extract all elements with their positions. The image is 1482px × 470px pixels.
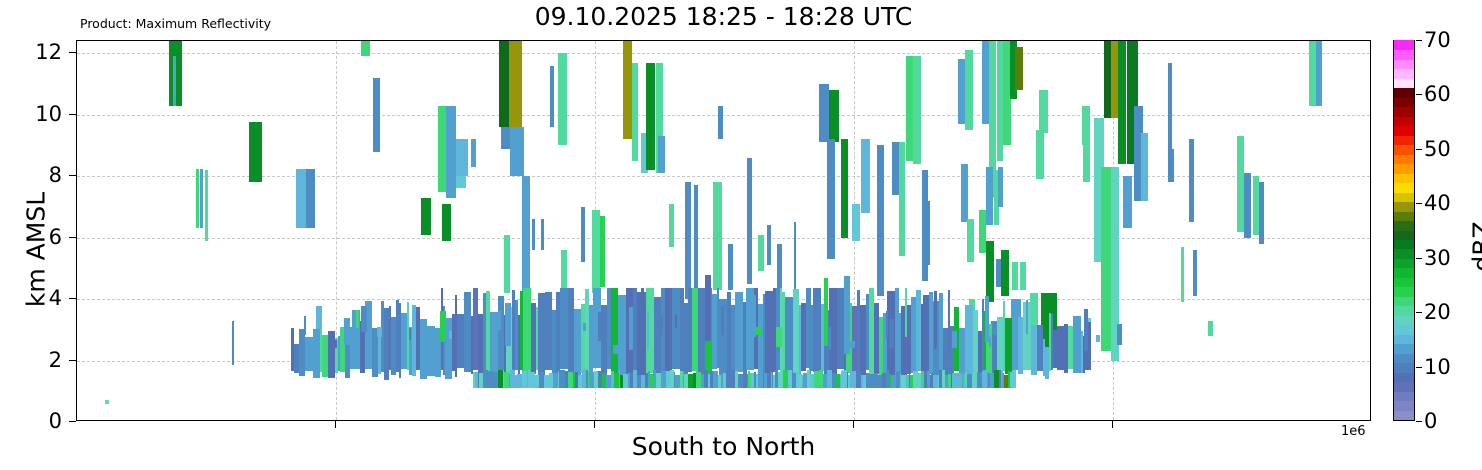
echo-cell <box>427 326 435 376</box>
colorbar-tick-label: 60 <box>1424 82 1451 106</box>
echo-cell <box>332 340 337 348</box>
colorbar-segment <box>1394 362 1414 373</box>
x-axis-label: South to North <box>76 432 1371 461</box>
echo-cell <box>523 288 531 377</box>
colorbar-segment <box>1394 144 1414 155</box>
echo-column <box>899 142 905 256</box>
echo-cell <box>598 312 603 341</box>
colorbar-segment <box>1394 343 1414 354</box>
plot-area <box>76 40 1371 421</box>
echo-column <box>1141 133 1148 201</box>
echo-cell <box>989 337 991 346</box>
echo-cell <box>771 332 775 348</box>
echo-column <box>306 169 315 229</box>
echo-column <box>819 84 829 142</box>
echo-column <box>747 158 752 284</box>
colorbar-segment <box>1394 153 1414 164</box>
echo-cell <box>672 288 680 369</box>
echo-cell <box>665 288 672 377</box>
colorbar-tick-mark <box>1416 421 1422 422</box>
echo-column <box>658 136 665 173</box>
echo-column <box>504 235 510 293</box>
echo-cell <box>420 319 427 378</box>
echo-cell <box>934 291 937 350</box>
colorbar-segment <box>1394 182 1414 193</box>
echo-cell <box>837 288 844 369</box>
echo-cell <box>560 288 568 368</box>
echo-cell <box>611 288 618 379</box>
colorbar-segment <box>1394 390 1414 401</box>
echo-column <box>1015 47 1023 90</box>
y-tick-label: 6 <box>49 225 62 249</box>
echo-cell <box>629 307 633 350</box>
echo-column <box>1082 106 1090 146</box>
echo-cell <box>659 315 663 334</box>
echo-column <box>499 41 509 127</box>
y-axis-label: km AMSL <box>22 140 51 360</box>
y-tick-label: 8 <box>49 163 62 187</box>
echo-column <box>550 66 554 127</box>
echo-column <box>501 127 510 149</box>
echo-column <box>728 244 733 290</box>
colorbar-tick-mark <box>1416 94 1422 95</box>
echo-column <box>1001 250 1009 296</box>
colorbar-tick-label: 10 <box>1424 355 1451 379</box>
echo-column <box>442 204 451 241</box>
echo-column <box>541 219 544 250</box>
y-tick-mark <box>69 237 76 238</box>
echo-column <box>982 41 989 124</box>
echo-cell <box>755 327 761 335</box>
echo-cell <box>574 309 581 379</box>
echo-cell <box>505 303 511 346</box>
echo-column <box>927 201 930 266</box>
echo-column <box>961 164 968 222</box>
echo-cell <box>886 311 888 339</box>
echo-column <box>1189 139 1194 222</box>
echo-cell <box>785 297 793 379</box>
echo-column <box>623 41 632 139</box>
echo-column <box>998 167 1003 207</box>
colorbar-segment <box>1394 248 1414 259</box>
echo-cell <box>445 318 452 379</box>
echo-cell <box>889 319 894 347</box>
echo-cell <box>849 341 855 349</box>
echo-column <box>965 50 973 130</box>
echo-column <box>1259 182 1264 243</box>
echo-cell <box>952 331 957 347</box>
echo-column <box>446 106 456 198</box>
echo-column <box>592 210 600 293</box>
x-tick-mark <box>1112 421 1113 428</box>
colorbar-tick-mark <box>1416 312 1422 313</box>
colorbar-tick-mark <box>1416 258 1422 259</box>
echo-column <box>456 139 468 176</box>
echo-cell <box>604 307 606 348</box>
colorbar-tick-mark <box>1416 149 1422 150</box>
echo-column <box>558 53 567 145</box>
y-tick-label: 4 <box>49 286 62 310</box>
colorbar-segment <box>1394 324 1414 335</box>
echo-column <box>581 207 585 262</box>
echo-column <box>767 225 771 265</box>
echo-column <box>913 56 921 164</box>
echo-cell <box>361 306 367 332</box>
echo-cell <box>316 306 322 329</box>
echo-column <box>205 170 208 241</box>
colorbar-segment <box>1394 172 1414 183</box>
echo-column <box>1193 250 1197 296</box>
y-tick-label: 12 <box>35 40 62 64</box>
colorbar-tick-mark <box>1416 367 1422 368</box>
colorbar-segment <box>1394 239 1414 250</box>
colorbar-tick-label: 0 <box>1424 409 1437 433</box>
echo-column <box>685 182 691 299</box>
echo-cell <box>1073 316 1081 372</box>
colorbar-segment <box>1394 381 1414 392</box>
echo-column <box>1020 262 1026 290</box>
echo-cell <box>824 278 828 346</box>
echo-cell <box>1026 300 1028 334</box>
colorbar-segment <box>1394 68 1414 79</box>
colorbar-segment <box>1394 49 1414 60</box>
echo-column <box>877 145 884 296</box>
echo-cell <box>538 293 545 378</box>
product-label: Product: Maximum Reflectivity <box>80 16 271 31</box>
echo-column <box>1036 130 1044 179</box>
colorbar-segment <box>1394 97 1414 108</box>
colorbar-segment <box>1394 210 1414 221</box>
colorbar-segment <box>1394 220 1414 231</box>
gridline-horizontal <box>77 53 1370 54</box>
colorbar-tick-label: 20 <box>1424 300 1451 324</box>
echo-cell <box>304 316 306 336</box>
echo-column <box>718 106 723 140</box>
echo-cell <box>498 311 501 330</box>
echo-cell <box>925 322 928 353</box>
echo-column <box>646 63 655 171</box>
colorbar-segment <box>1394 400 1414 411</box>
echo-cell <box>985 296 989 342</box>
colorbar-tick-label: 40 <box>1424 191 1451 215</box>
echo-column <box>1101 167 1111 351</box>
colorbar-segment <box>1394 40 1414 51</box>
echo-column <box>509 41 522 127</box>
echo-column <box>1244 173 1251 238</box>
colorbar-segment <box>1394 201 1414 212</box>
echo-column <box>1208 321 1213 336</box>
colorbar-segment <box>1394 305 1414 316</box>
colorbar-segment <box>1394 286 1414 297</box>
y-tick-mark <box>69 360 76 361</box>
y-tick-mark <box>69 52 76 53</box>
echo-cell <box>618 295 626 375</box>
colorbar-segment <box>1394 191 1414 202</box>
echo-column <box>249 122 262 182</box>
echo-column <box>296 169 306 229</box>
colorbar-segment <box>1394 352 1414 363</box>
echo-cell <box>464 292 471 372</box>
echo-column <box>561 250 567 290</box>
x-tick-mark <box>335 421 336 428</box>
echo-column <box>1309 41 1316 106</box>
echo-column <box>777 244 782 290</box>
echo-column <box>1316 41 1322 106</box>
x-tick-mark <box>853 421 854 428</box>
colorbar-segment <box>1394 87 1414 98</box>
colorbar-tick-mark <box>1416 40 1422 41</box>
echo-column <box>532 219 535 250</box>
echo-column <box>1181 247 1184 302</box>
echo-cell <box>344 318 350 345</box>
echo-column <box>986 241 994 302</box>
colorbar-tick-mark <box>1416 203 1422 204</box>
echo-column <box>1170 149 1174 183</box>
echo-column <box>232 321 234 366</box>
echo-cell <box>654 297 661 379</box>
colorbar-segment <box>1394 333 1414 344</box>
echo-column <box>632 63 638 161</box>
echo-cell <box>1012 370 1016 388</box>
echo-column <box>841 139 848 237</box>
gridline-horizontal <box>77 176 1370 177</box>
echo-column <box>861 139 870 213</box>
colorbar-segment <box>1394 163 1414 174</box>
gridline-horizontal <box>77 115 1370 116</box>
echo-cell <box>647 311 649 350</box>
echo-column <box>986 167 993 225</box>
echo-column <box>173 56 176 105</box>
echo-cell <box>675 315 677 328</box>
echo-column <box>1111 41 1118 118</box>
echo-column <box>1123 176 1132 228</box>
echo-cell <box>735 292 743 372</box>
echo-column <box>1237 136 1244 231</box>
echo-cell <box>1005 318 1012 374</box>
echo-cell <box>813 288 821 372</box>
echo-column <box>1012 262 1018 290</box>
y-tick-label: 2 <box>49 348 62 372</box>
echo-column <box>829 90 839 142</box>
echo-column <box>510 127 524 176</box>
echo-column <box>967 219 974 262</box>
y-axis: km AMSL 024681012 <box>0 0 76 470</box>
y-tick-label: 0 <box>49 409 62 433</box>
gridline-horizontal <box>77 238 1370 239</box>
colorbar-segment <box>1394 125 1414 136</box>
echo-cell <box>1084 309 1088 351</box>
colorbar-segment <box>1394 134 1414 145</box>
y-tick-mark <box>69 114 76 115</box>
echo-column <box>361 41 370 56</box>
echo-column <box>827 139 835 259</box>
echo-cell <box>776 327 782 347</box>
echo-cell <box>1096 335 1100 343</box>
echo-cell <box>545 292 552 371</box>
colorbar-segment <box>1394 78 1414 89</box>
colorbar-segment <box>1394 106 1414 117</box>
colorbar-segment <box>1394 229 1414 240</box>
colorbar-segment <box>1394 267 1414 278</box>
echo-cell <box>905 288 907 336</box>
echo-column <box>694 185 698 299</box>
y-tick-mark <box>69 421 76 422</box>
echo-cell <box>965 305 973 381</box>
echo-column <box>669 204 674 247</box>
echo-column <box>373 78 380 152</box>
echo-column <box>421 198 431 235</box>
echo-cell <box>409 328 411 340</box>
colorbar-segment <box>1394 409 1414 420</box>
echo-column <box>196 169 199 229</box>
radar-cross-section-figure: 09.10.2025 18:25 - 18:28 UTC Product: Ma… <box>0 0 1482 470</box>
echo-cell <box>313 329 320 378</box>
echo-cell <box>698 288 705 374</box>
echo-column <box>852 204 860 241</box>
colorbar-segment <box>1394 115 1414 126</box>
echo-column <box>979 210 986 253</box>
echo-column <box>713 182 722 290</box>
echo-cell <box>705 275 711 341</box>
colorbar-label: dBZ <box>1468 157 1482 337</box>
echo-cell <box>440 311 446 342</box>
y-tick-mark <box>69 175 76 176</box>
echo-cell <box>1057 326 1064 370</box>
echo-cell <box>829 327 831 351</box>
echo-cell <box>377 327 382 337</box>
colorbar-segment <box>1394 314 1414 325</box>
echo-column <box>1117 324 1122 346</box>
echo-column <box>600 216 605 287</box>
echo-cell <box>305 337 313 370</box>
echo-column <box>200 169 203 229</box>
echo-cell <box>449 331 452 339</box>
echo-cell <box>721 306 724 335</box>
echo-cell <box>457 314 464 369</box>
colorbar <box>1393 40 1415 421</box>
x-tick-mark <box>594 421 595 428</box>
y-tick-label: 10 <box>35 102 62 126</box>
colorbar-segment <box>1394 296 1414 307</box>
echo-cell <box>356 310 359 328</box>
echo-column <box>105 400 109 404</box>
colorbar-segment <box>1394 59 1414 70</box>
echo-column <box>1118 41 1126 164</box>
colorbar-gradient <box>1393 40 1415 421</box>
x-axis-offset-text: 1e6 <box>1341 424 1366 439</box>
echo-cell <box>490 312 498 376</box>
echo-cell <box>948 290 950 353</box>
colorbar-tick-label: 50 <box>1424 137 1451 161</box>
colorbar-tick-label: 30 <box>1424 246 1451 270</box>
colorbar-segment <box>1394 371 1414 382</box>
echo-cell <box>1071 343 1073 353</box>
colorbar-tick-label: 70 <box>1424 28 1451 52</box>
colorbar-segment <box>1394 258 1414 269</box>
echo-cell <box>583 323 586 331</box>
echo-cell <box>613 345 618 354</box>
colorbar-segment <box>1394 277 1414 288</box>
echo-column <box>758 235 764 272</box>
echo-column <box>471 139 476 167</box>
y-tick-mark <box>69 298 76 299</box>
echo-cell <box>328 331 335 379</box>
echo-column <box>1039 90 1048 133</box>
